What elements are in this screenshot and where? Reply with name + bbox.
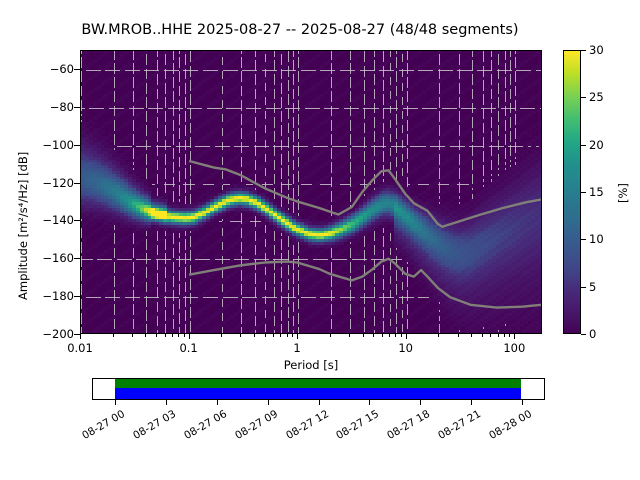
x-tick	[273, 334, 274, 337]
y-tick-label: −80	[28, 100, 74, 114]
timeline-tick	[319, 400, 320, 405]
x-tick	[458, 334, 459, 337]
y-tick-label: −180	[28, 289, 74, 303]
colorbar-tick-label: 20	[589, 138, 604, 152]
coverage-bar-green	[115, 379, 521, 388]
colorbar-tick-label: 15	[589, 185, 604, 199]
x-tick	[406, 334, 407, 339]
timeline-tick	[471, 400, 472, 405]
x-tick	[498, 334, 499, 337]
timeline-tick	[166, 400, 167, 405]
y-tick	[74, 258, 80, 259]
x-tick	[373, 334, 374, 337]
x-tick	[490, 334, 491, 337]
timeline-tick	[115, 400, 116, 405]
colorbar-tick-label: 30	[589, 43, 604, 57]
x-tick	[349, 334, 350, 337]
x-tick	[165, 334, 166, 337]
x-tick	[363, 334, 364, 337]
x-tick	[471, 334, 472, 337]
y-tick	[74, 69, 80, 70]
ppsd-axes[interactable]	[80, 50, 542, 334]
x-tick	[189, 334, 190, 339]
timeline-tick	[369, 400, 370, 405]
y-tick	[74, 220, 80, 221]
nlnm-curve	[189, 259, 541, 308]
x-tick	[292, 334, 293, 337]
x-tick	[172, 334, 173, 337]
noise-model-layer	[81, 51, 541, 333]
x-tick	[330, 334, 331, 337]
x-tick	[287, 334, 288, 337]
x-tick-label: 0.1	[179, 341, 197, 355]
x-tick	[382, 334, 383, 337]
x-tick	[504, 334, 505, 337]
colorbar-tick	[581, 145, 586, 146]
y-tick-label: −160	[28, 251, 74, 265]
x-tick-label: 0.01	[67, 341, 93, 355]
x-axis-label: Period [s]	[80, 358, 542, 372]
x-tick	[395, 334, 396, 337]
x-tick	[178, 334, 179, 337]
colorbar-tick-label: 5	[589, 280, 596, 294]
x-tick	[438, 334, 439, 337]
colorbar-tick	[581, 287, 586, 288]
x-tick	[297, 334, 298, 339]
ppsd-figure: BW.MROB..HHE 2025-08-27 -- 2025-08-27 (4…	[0, 0, 640, 480]
colorbar	[563, 50, 581, 334]
colorbar-tick-label: 10	[589, 232, 604, 246]
coverage-bar-blue	[115, 388, 521, 399]
x-tick	[184, 334, 185, 337]
x-tick-label: 100	[503, 341, 525, 355]
colorbar-tick-label: 25	[589, 90, 604, 104]
x-tick	[389, 334, 390, 337]
timeline-coverage-axis[interactable]	[92, 378, 545, 400]
y-tick	[74, 183, 80, 184]
timeline-tick	[420, 400, 421, 405]
y-tick	[74, 107, 80, 108]
nhnm-curve	[189, 161, 541, 227]
x-tick	[145, 334, 146, 337]
timeline-tick	[522, 400, 523, 405]
timeline-tick	[268, 400, 269, 405]
x-tick	[113, 334, 114, 337]
x-tick-label: 1	[293, 341, 300, 355]
x-tick	[221, 334, 222, 337]
x-tick	[132, 334, 133, 337]
timeline-tick	[217, 400, 218, 405]
x-tick	[80, 334, 81, 339]
y-tick	[74, 145, 80, 146]
x-tick	[254, 334, 255, 337]
y-tick-label: −120	[28, 176, 74, 190]
colorbar-tick-label: 0	[589, 327, 596, 341]
plot-title: BW.MROB..HHE 2025-08-27 -- 2025-08-27 (4…	[0, 22, 600, 38]
y-tick	[74, 296, 80, 297]
x-tick	[240, 334, 241, 337]
colorbar-tick	[581, 192, 586, 193]
x-tick	[514, 334, 515, 339]
x-tick	[401, 334, 402, 337]
colorbar-tick	[581, 97, 586, 98]
x-tick	[509, 334, 510, 337]
colorbar-label: [%]	[616, 183, 630, 203]
x-tick-label: 10	[398, 341, 413, 355]
colorbar-tick	[581, 50, 586, 51]
x-tick	[482, 334, 483, 337]
y-tick-label: −100	[28, 138, 74, 152]
x-tick	[265, 334, 266, 337]
colorbar-tick	[581, 239, 586, 240]
x-tick	[280, 334, 281, 337]
y-tick-label: −140	[28, 213, 74, 227]
colorbar-tick	[581, 334, 586, 335]
x-tick	[156, 334, 157, 337]
y-tick-label: −200	[28, 327, 74, 341]
y-tick-label: −60	[28, 62, 74, 76]
